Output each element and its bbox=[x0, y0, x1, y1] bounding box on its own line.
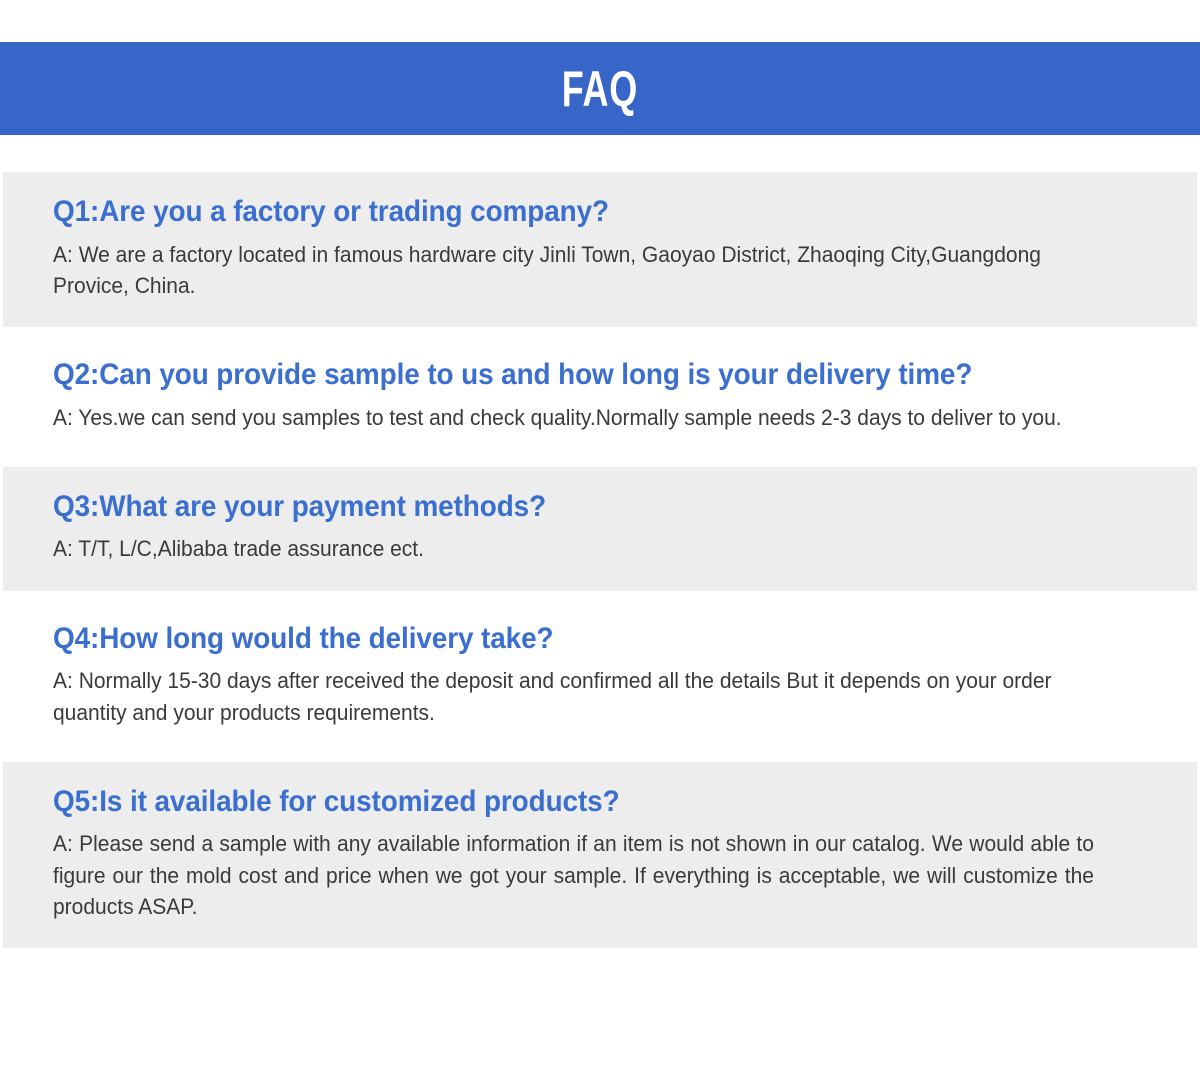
faq-divider-1 bbox=[0, 327, 1200, 335]
faq-page: FAQ Q1:Are you a factory or trading comp… bbox=[0, 0, 1200, 1085]
faq-question-q3: Q3:What are your payment methods? bbox=[53, 489, 1070, 526]
faq-item-q1[interactable]: Q1:Are you a factory or trading company?… bbox=[3, 172, 1197, 327]
faq-header-banner: FAQ bbox=[0, 42, 1200, 135]
page-title: FAQ bbox=[562, 64, 638, 114]
faq-question-q2: Q2:Can you provide sample to us and how … bbox=[53, 357, 1070, 394]
faq-answer-q1: A: We are a factory located in famous ha… bbox=[53, 239, 1084, 301]
faq-item-q2[interactable]: Q2:Can you provide sample to us and how … bbox=[3, 335, 1197, 459]
faq-divider-3 bbox=[0, 591, 1200, 599]
faq-item-q5[interactable]: Q5:Is it available for customized produc… bbox=[3, 762, 1197, 948]
faq-list: Q1:Are you a factory or trading company?… bbox=[0, 172, 1200, 948]
faq-item-q3[interactable]: Q3:What are your payment methods? A: T/T… bbox=[3, 467, 1197, 591]
faq-answer-q2: A: Yes.we can send you samples to test a… bbox=[53, 402, 1084, 433]
faq-question-q1: Q1:Are you a factory or trading company? bbox=[53, 194, 1070, 231]
faq-answer-q4: A: Normally 15-30 days after received th… bbox=[53, 665, 1084, 727]
faq-divider-2 bbox=[0, 459, 1200, 467]
faq-item-q4[interactable]: Q4:How long would the delivery take? A: … bbox=[3, 599, 1197, 754]
faq-answer-q5: A: Please send a sample with any availab… bbox=[53, 828, 1094, 922]
faq-answer-q3: A: T/T, L/C,Alibaba trade assurance ect. bbox=[53, 533, 1084, 564]
faq-divider-4 bbox=[0, 754, 1200, 762]
faq-question-q5: Q5:Is it available for customized produc… bbox=[53, 784, 1070, 821]
faq-question-q4: Q4:How long would the delivery take? bbox=[53, 621, 1070, 658]
